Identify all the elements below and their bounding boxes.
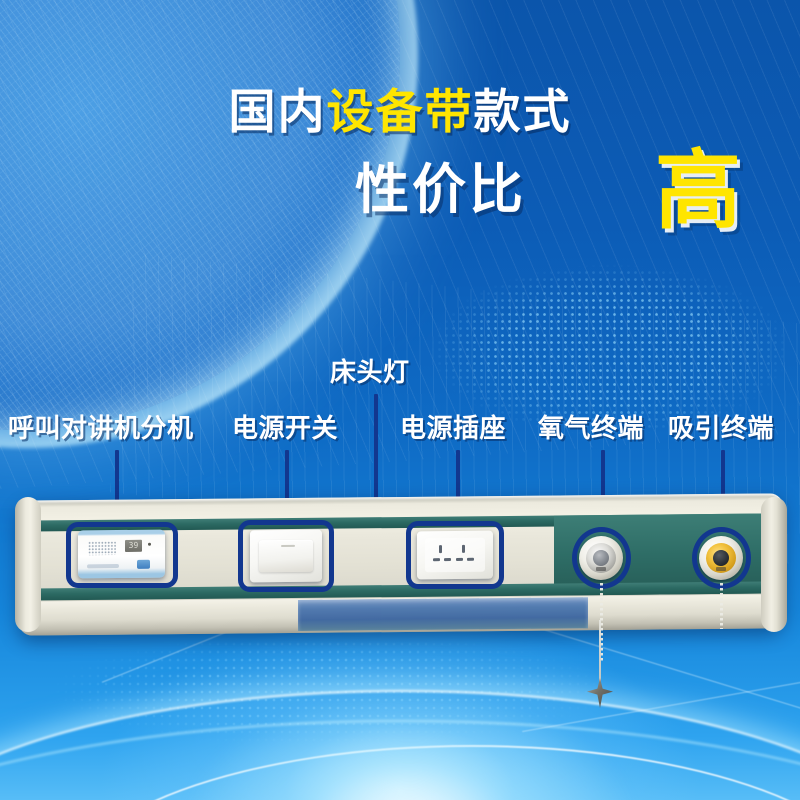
headline-part-1: 国内 xyxy=(229,85,327,140)
callout-label-intercom: 呼叫对讲机分机 xyxy=(8,416,194,442)
suction-hose-cord xyxy=(720,583,723,629)
headline-line-1: 国内设备带款式 xyxy=(0,88,800,136)
pull-cord-handle[interactable] xyxy=(587,678,613,708)
headline-part-2: 设备带 xyxy=(327,85,474,140)
bottom-glow xyxy=(180,690,640,800)
panel-end-cap-left xyxy=(15,497,41,632)
callout-label-bed-lamp: 床头灯 xyxy=(330,360,410,386)
highlight-box-power-socket xyxy=(406,521,504,589)
callout-label-oxygen: 氧气终端 xyxy=(538,416,644,442)
cross-handle-icon xyxy=(587,678,613,708)
callout-label-power-switch: 电源开关 xyxy=(232,416,338,442)
highlight-box-suction xyxy=(692,527,751,589)
headline-line-2: 性价比 xyxy=(355,163,526,217)
highlight-box-intercom xyxy=(66,522,178,588)
promo-image-canvas: 国内设备带款式 性价比 高 呼叫对讲机分机 电源开关 床头灯 电源插座 氧气终端… xyxy=(0,0,800,800)
headline-emphasis: 高 xyxy=(655,148,741,234)
highlight-box-oxygen xyxy=(572,527,631,589)
callout-label-suction: 吸引终端 xyxy=(668,416,774,442)
headline-part-3: 款式 xyxy=(474,85,572,140)
bed-lamp-diffuser xyxy=(298,597,588,631)
panel-end-cap-right xyxy=(761,497,787,632)
highlight-box-power-switch xyxy=(238,520,334,592)
callout-label-power-socket: 电源插座 xyxy=(400,416,506,442)
bed-lamp-pull-cord[interactable] xyxy=(599,620,601,685)
